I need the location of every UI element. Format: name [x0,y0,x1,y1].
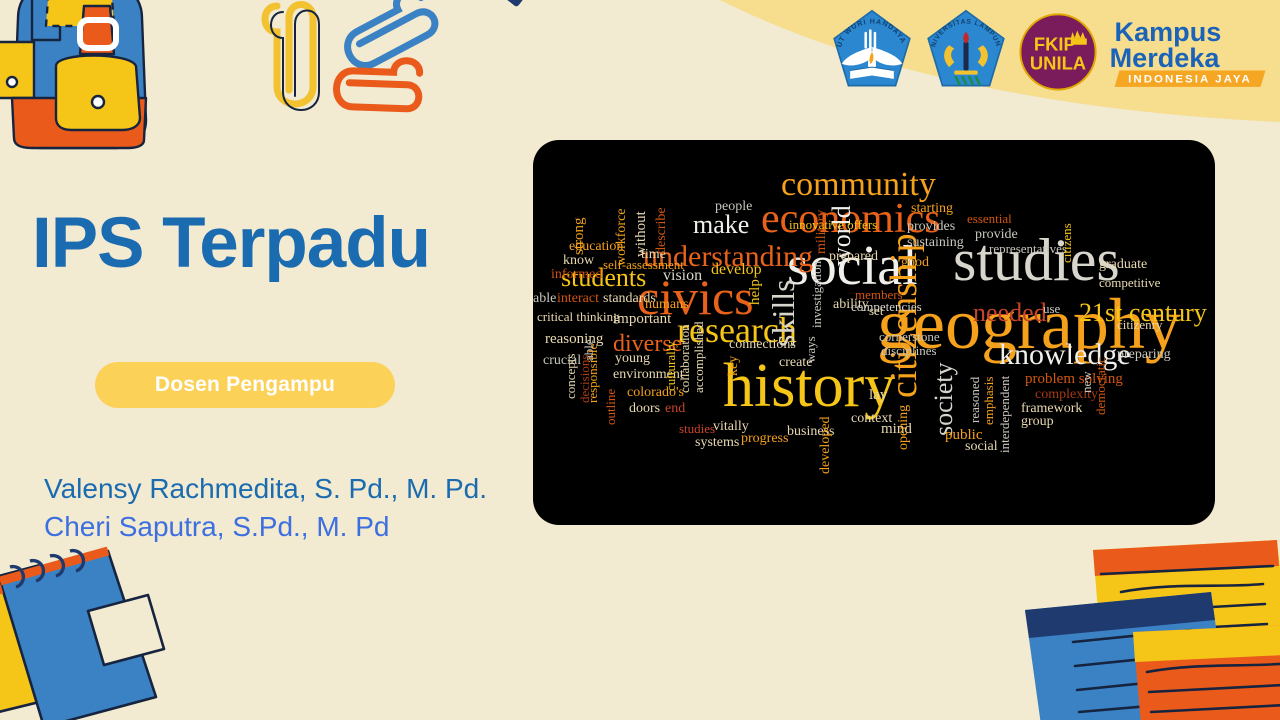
word-cloud-term: starting [911,202,953,216]
word-cloud-term: lay [869,388,887,403]
word-cloud-term: decisions [578,355,591,403]
word-cloud-term: help [748,279,763,305]
lecturer-list: Valensy Rachmedita, S. Pd., M. Pd. Cheri… [44,470,564,546]
word-cloud-term: end [665,402,685,416]
word-cloud-term: military [815,210,829,254]
svg-text:INDONESIA JAYA: INDONESIA JAYA [1128,74,1252,86]
word-cloud-term: concepts [564,354,577,399]
word-cloud-term: innovative offers [789,218,877,231]
word-cloud-term: strong [572,218,587,256]
word-cloud-term: able [582,339,595,361]
word-cloud-term: interdependent [998,376,1011,453]
word-cloud-term: competitive [1099,276,1160,289]
word-cloud-term: society [931,362,957,436]
word-cloud-term: describe [655,207,669,254]
word-cloud-term: knowledge [999,340,1131,370]
word-cloud-term: workforce [615,208,629,266]
paperclips-illustration [255,0,455,119]
svg-text:FKIP: FKIP [1034,33,1076,54]
word-cloud-term: without [634,211,649,257]
word-cloud-term: problem solving [1025,372,1123,387]
word-cloud-term: connections [729,338,796,352]
word-cloud-term: outline [604,389,617,425]
word-cloud-term: use [1043,302,1060,315]
lecturer-name-1: Valensy Rachmedita, S. Pd., M. Pd. [44,470,564,508]
svg-text:UNILA: UNILA [1030,53,1086,74]
word-cloud-term: disciplines [881,344,937,357]
word-cloud-term: needed [973,300,1047,326]
word-cloud-term: provide [975,228,1018,242]
word-cloud-term: make [693,212,749,238]
word-cloud-term: culturally [664,341,677,391]
word-cloud-term: able [533,292,556,306]
tut-wuri-handayani-logo: TUT WURI HANDAYANI [830,8,914,96]
logo-row: TUT WURI HANDAYANI [830,8,1272,96]
word-cloud-term: good [901,256,929,270]
lecturer-name-2: Cheri Saputra, S.Pd., M. Pd [44,508,564,546]
paper-stack-illustration [1015,520,1280,720]
word-cloud-term: citizenry [1117,318,1162,331]
word-cloud-term: investigation [810,261,823,328]
word-cloud-term: essential [967,212,1012,225]
word-cloud-term: representatives [989,242,1067,255]
word-cloud-term: democratic [1094,357,1107,415]
word-cloud-term: progress [741,432,788,446]
word-cloud-term: develop [711,262,762,278]
word-cloud-term: important [613,312,671,327]
word-cloud-term: preparing [1117,348,1171,362]
word-cloud-term: studies [679,422,715,435]
word-cloud-term: emphasis [982,377,995,425]
word-cloud-term: informed [551,268,602,282]
word-cloud-term: citizens [1060,223,1073,263]
word-cloud-term: doors [629,402,660,416]
word-cloud-term: new [1080,371,1093,393]
word-cloud-panel: geographystudiessocialhistorycivicsecono… [533,140,1215,525]
page-title: IPS Terpadu [32,208,430,279]
slide-canvas: TUT WURI HANDAYANI [0,0,1280,720]
fkip-unila-logo: FKIP UNILA [1018,12,1098,92]
dosen-pengampu-badge: Dosen Pengampu [95,362,395,408]
word-cloud-term: humans [645,298,689,312]
word-cloud-term: cornerstone [879,330,940,343]
word-cloud-term: critical thinking [537,310,620,323]
universitas-lampung-logo: UNIVERSITAS LAMPUNG [924,8,1008,96]
word-cloud-term: key [727,356,741,376]
word-cloud-term: know [563,254,594,268]
word-cloud-term: group [1021,415,1054,429]
word-cloud-term: social [965,440,998,454]
word-cloud-term: prepared [829,250,878,264]
word-cloud-term: people [715,200,752,214]
word-cloud-term: interact [557,292,599,306]
word-cloud-term: reasoned [968,377,981,423]
word-cloud-term: sustaining [907,236,964,250]
word-cloud-term: opening [897,405,911,450]
word-cloud-term: young [615,352,650,366]
svg-text:Merdeka: Merdeka [1110,43,1221,73]
word-cloud-term: developed [819,416,833,474]
kampus-merdeka-logo: Kampus Merdeka INDONESIA JAYA [1108,13,1272,91]
word-cloud-term: set [869,304,883,317]
backpack-illustration [0,0,218,200]
word-cloud-term: provides [907,220,955,234]
word-cloud-term: ways [804,336,817,363]
word-cloud-term: accomplished [692,322,705,393]
word-cloud-term: collaboration [678,324,691,393]
word-cloud-term: systems [695,436,739,450]
pen-illustration [418,0,528,50]
word-cloud-term: competencies [851,300,922,313]
word-cloud-term: graduate [1099,258,1147,272]
spiral-notebook-illustration [0,545,253,720]
word-cloud-term: community [781,168,936,202]
